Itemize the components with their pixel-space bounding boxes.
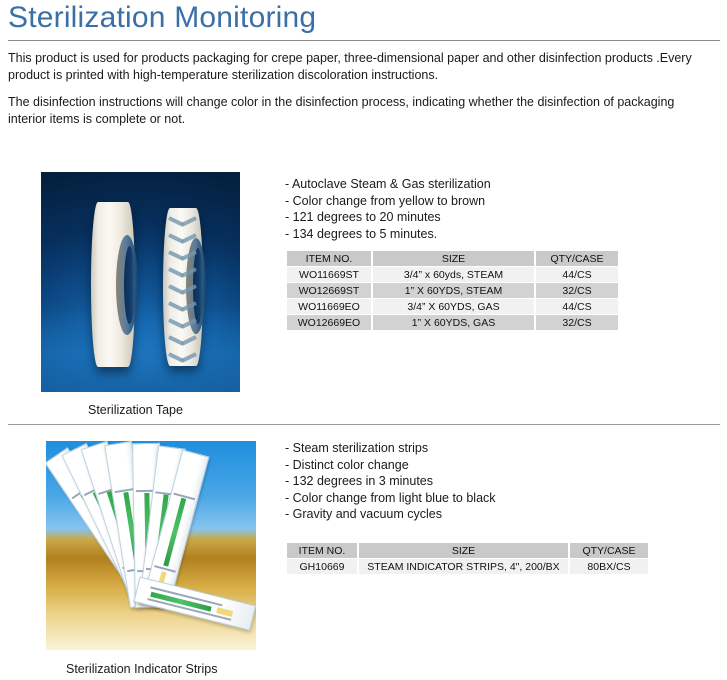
page-title: Sterilization Monitoring (8, 0, 316, 38)
cell-item-no: WO11669ST (287, 267, 371, 282)
photo-backdrop-floor (41, 304, 240, 392)
cell-size: 1” X 60YDS, GAS (373, 315, 534, 330)
feature-list-tape: - Autoclave Steam & Gas sterilization - … (285, 176, 491, 242)
intro-paragraph-2: The disinfection instructions will chang… (8, 94, 698, 128)
chevron-icon (169, 233, 196, 244)
spec-table-indicator-strips: ITEM NO. SIZE QTY/CASE GH10669 STEAM IND… (285, 542, 650, 575)
chevron-icon (169, 352, 196, 363)
cell-qty-case: 44/CS (536, 299, 618, 314)
column-header-qty-case: QTY/CASE (570, 543, 648, 558)
indicator-green-bar (163, 498, 186, 567)
table-row: WO12669EO 1” X 60YDS, GAS 32/CS (287, 315, 618, 330)
cell-qty-case: 80BX/CS (570, 559, 648, 574)
cell-qty-case: 44/CS (536, 267, 618, 282)
feature-item: - Color change from yellow to brown (285, 193, 491, 210)
caption-sterilization-indicator-strips: Sterilization Indicator Strips (66, 662, 217, 676)
column-header-qty-case: QTY/CASE (536, 251, 618, 266)
indicator-strip-flat (133, 576, 256, 630)
table-row: WO12669ST 1” X 60YDS, STEAM 32/CS (287, 283, 618, 298)
feature-item: - Gravity and vacuum cycles (285, 506, 496, 523)
chevron-icon (169, 267, 196, 278)
chevron-icon (169, 250, 196, 261)
table-header-row: ITEM NO. SIZE QTY/CASE (287, 251, 618, 266)
table-row: GH10669 STEAM INDICATOR STRIPS, 4", 200/… (287, 559, 648, 574)
table-row: WO11669EO 3/4” X 60YDS, GAS 44/CS (287, 299, 618, 314)
feature-item: - Autoclave Steam & Gas sterilization (285, 176, 491, 193)
feature-item: - Steam sterilization strips (285, 440, 496, 457)
column-header-size: SIZE (359, 543, 568, 558)
product-photo-indicator-strips (46, 441, 256, 650)
cell-item-no: GH10669 (287, 559, 357, 574)
section-divider (8, 424, 720, 425)
cell-size: 3/4” x 60yds, STEAM (373, 267, 534, 282)
product-photo-sterilization-tape (41, 172, 240, 392)
caption-sterilization-tape: Sterilization Tape (88, 403, 183, 417)
intro-paragraph-1: This product is used for products packag… (8, 50, 698, 84)
spec-table-tape: ITEM NO. SIZE QTY/CASE WO11669ST 3/4” x … (285, 250, 620, 331)
cell-size: 3/4” X 60YDS, GAS (373, 299, 534, 314)
cell-item-no: WO12669ST (287, 283, 371, 298)
column-header-size: SIZE (373, 251, 534, 266)
feature-item: - 132 degrees in 3 minutes (285, 473, 496, 490)
table-row: WO11669ST 3/4” x 60yds, STEAM 44/CS (287, 267, 618, 282)
cell-size: STEAM INDICATOR STRIPS, 4", 200/BX (359, 559, 568, 574)
cell-item-no: WO12669EO (287, 315, 371, 330)
table-header-row: ITEM NO. SIZE QTY/CASE (287, 543, 648, 558)
cell-qty-case: 32/CS (536, 315, 618, 330)
chevron-icon (169, 335, 196, 346)
title-divider (8, 40, 720, 41)
cell-size: 1” X 60YDS, STEAM (373, 283, 534, 298)
chevron-icon (169, 301, 196, 312)
tape-roll-core-inner (124, 246, 135, 324)
tape-roll-plain (91, 202, 135, 367)
cell-item-no: WO11669EO (287, 299, 371, 314)
column-header-item-no: ITEM NO. (287, 543, 357, 558)
feature-item: - Color change from light blue to black (285, 490, 496, 507)
feature-item: - Distinct color change (285, 457, 496, 474)
cell-qty-case: 32/CS (536, 283, 618, 298)
column-header-item-no: ITEM NO. (287, 251, 371, 266)
feature-item: - 134 degrees to 5 minutes. (285, 226, 491, 243)
tape-roll-indicator (163, 208, 203, 366)
chevron-icon (169, 216, 196, 227)
feature-item: - 121 degrees to 20 minutes (285, 209, 491, 226)
chevron-icon (169, 318, 196, 329)
chevron-icon (169, 284, 196, 295)
feature-list-strips: - Steam sterilization strips - Distinct … (285, 440, 496, 523)
